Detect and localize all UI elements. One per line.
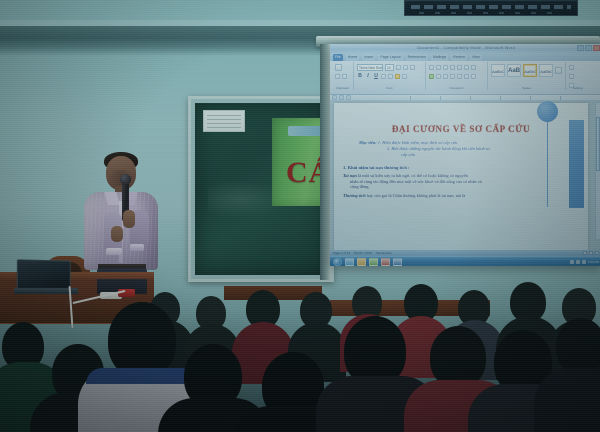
ribbon-group-styles[interactable]: AaBbCcD AaBbC AaBbCcD AaBbCc Styles xyxy=(488,62,566,90)
taskbar-windows-explorer-icon[interactable] xyxy=(357,258,366,266)
paragraph-1-cont-2: cộng đồng. xyxy=(343,184,579,190)
presenter-cuff-right xyxy=(130,244,144,251)
print-layout-view-icon[interactable] xyxy=(583,251,587,255)
shrink-font-icon[interactable] xyxy=(403,65,408,70)
group-label-paragraph: Paragraph xyxy=(426,86,487,90)
decorative-line-shape xyxy=(547,121,548,207)
paragraph-2-lead: Thương tích xyxy=(343,193,366,198)
multilevel-list-icon[interactable] xyxy=(443,65,448,70)
classroom-scene: CÁ Document xyxy=(0,0,600,432)
borders-icon[interactable] xyxy=(471,74,476,79)
text-highlight-icon[interactable] xyxy=(395,74,400,79)
strikethrough-icon[interactable] xyxy=(381,74,386,79)
style-heading-1[interactable]: AaBbC xyxy=(507,64,521,77)
ribbon-group-clipboard[interactable]: Clipboard xyxy=(332,62,354,90)
taskbar-internet-explorer-icon[interactable] xyxy=(345,258,354,266)
scrollbar-thumb[interactable] xyxy=(596,117,600,171)
grow-font-icon[interactable] xyxy=(396,65,401,70)
objectives-block: Mục tiêu: 1. Hiểu được khái niệm, mục đí… xyxy=(343,140,579,158)
tab-insert[interactable]: Insert xyxy=(362,54,375,61)
status-view-controls[interactable] xyxy=(583,251,599,255)
ribbon-group-font[interactable]: Times New Roman 14 B I U xyxy=(354,62,426,90)
save-icon[interactable] xyxy=(332,95,337,100)
style-heading-2[interactable]: AaBbCcD xyxy=(523,64,537,77)
status-page-info: Page 1 of 12 xyxy=(333,251,350,255)
status-language: Vietnamese xyxy=(376,251,392,255)
system-tray[interactable]: 1:03 PM xyxy=(570,260,599,264)
taskbar-microsoft-word-icon[interactable] xyxy=(393,258,402,266)
taskbar-powerpoint-icon[interactable] xyxy=(381,258,390,266)
projection-screen: Document1 - Compatibility Mode - Microso… xyxy=(330,44,600,266)
windows-taskbar[interactable]: 1:03 PM xyxy=(330,256,600,266)
taskbar-media-player-icon[interactable] xyxy=(369,258,378,266)
tab-home[interactable]: Home xyxy=(346,54,360,61)
sort-icon[interactable] xyxy=(464,65,469,70)
change-styles-icon[interactable] xyxy=(555,67,562,74)
increase-indent-icon[interactable] xyxy=(457,65,462,70)
show-marks-icon[interactable] xyxy=(471,65,476,70)
close-icon[interactable] xyxy=(593,45,600,51)
ribbon[interactable]: Clipboard Times New Roman 14 B I U xyxy=(330,61,600,95)
start-button-icon[interactable] xyxy=(333,258,342,266)
objective-1: 1. Hiểu được khái niệm, mục đích sơ cấp … xyxy=(378,140,458,145)
font-name-box[interactable]: Times New Roman xyxy=(357,64,383,71)
maximize-icon[interactable] xyxy=(585,45,592,51)
numbering-icon[interactable] xyxy=(436,65,441,70)
font-size-box[interactable]: 14 xyxy=(385,64,394,71)
document-canvas[interactable]: ĐẠI CƯƠNG VỀ SƠ CẤP CỨU Mục tiêu: 1. Hiể… xyxy=(330,101,600,250)
slide-title: ĐẠI CƯƠNG VỀ SƠ CẤP CỨU xyxy=(343,124,579,134)
paragraph-2-rest: hay còn gọi là Chấn thương không phải là… xyxy=(366,193,466,198)
italic-button[interactable]: I xyxy=(365,73,371,80)
wall-sign-text-line-2 xyxy=(419,12,563,14)
line-spacing-icon[interactable] xyxy=(457,74,462,79)
underline-button[interactable]: U xyxy=(373,73,379,80)
word-title-bar[interactable]: Document1 - Compatibility Mode - Microso… xyxy=(330,44,600,53)
cut-icon[interactable] xyxy=(335,74,340,79)
presenter xyxy=(78,152,164,292)
ribbon-tab-strip[interactable]: File Home Insert Page Layout References … xyxy=(330,53,600,61)
font-color-icon[interactable] xyxy=(402,74,407,79)
back-desk-right xyxy=(330,300,490,316)
presenter-cuff-left xyxy=(106,248,122,255)
minimize-icon[interactable] xyxy=(577,45,584,51)
paragraph-1-rest: là một sự kiện xảy ra bất ngờ, có thể có… xyxy=(357,173,468,178)
full-screen-view-icon[interactable] xyxy=(589,251,593,255)
back-desk-mid xyxy=(224,286,322,300)
style-normal[interactable]: AaBbCcD xyxy=(491,64,505,77)
style-title[interactable]: AaBbCc xyxy=(539,64,553,77)
align-center-icon[interactable] xyxy=(436,74,441,79)
ribbon-group-paragraph[interactable]: Paragraph xyxy=(426,62,488,90)
replace-icon[interactable] xyxy=(569,74,574,79)
group-label-clipboard: Clipboard xyxy=(332,86,353,90)
align-right-icon[interactable] xyxy=(443,74,448,79)
network-icon[interactable] xyxy=(570,260,574,264)
wall-sign-text-line-1 xyxy=(411,5,571,9)
undo-icon[interactable] xyxy=(339,95,344,100)
board-notice-paper xyxy=(203,110,245,132)
presenter-hand-left xyxy=(111,226,123,242)
taskbar-clock[interactable]: 1:03 PM xyxy=(588,260,599,264)
subscript-icon[interactable] xyxy=(388,74,393,79)
copy-icon[interactable] xyxy=(342,74,347,79)
volume-icon[interactable] xyxy=(576,260,580,264)
wall-sign xyxy=(404,0,578,16)
web-layout-view-icon[interactable] xyxy=(595,251,599,255)
presenter-hand-right xyxy=(123,210,135,228)
document-page[interactable]: ĐẠI CƯƠNG VỀ SƠ CẤP CỨU Mục tiêu: 1. Hiể… xyxy=(334,103,588,250)
decorative-circle-shape xyxy=(537,101,558,122)
laptop-screen xyxy=(17,259,71,290)
decorative-bar-shape xyxy=(569,120,584,208)
word-title-text: Document1 - Compatibility Mode - Microso… xyxy=(417,45,515,50)
tab-review[interactable]: Review xyxy=(451,54,467,61)
clear-formatting-icon[interactable] xyxy=(410,65,415,70)
battery-icon[interactable] xyxy=(582,260,586,264)
tab-file[interactable]: File xyxy=(333,54,343,61)
group-label-editing: Editing xyxy=(566,86,590,90)
section-heading: 1. Khái niệm tai nạn thương tích : xyxy=(343,165,579,170)
tab-view[interactable]: View xyxy=(470,54,482,61)
quick-access-toolbar[interactable] xyxy=(332,95,351,100)
paste-icon[interactable] xyxy=(335,64,342,71)
group-label-styles: Styles xyxy=(488,86,565,90)
window-controls[interactable] xyxy=(577,45,600,51)
status-word-count: Words: 2,340 xyxy=(354,251,372,255)
bold-button[interactable]: B xyxy=(357,73,363,80)
objective-3: cấp cứu xyxy=(343,152,579,158)
find-icon[interactable] xyxy=(569,65,574,70)
bullets-icon[interactable] xyxy=(429,65,434,70)
tab-references[interactable]: References xyxy=(406,54,428,61)
objectives-label: Mục tiêu: xyxy=(359,140,377,145)
justify-icon[interactable] xyxy=(450,74,455,79)
ribbon-group-editing[interactable]: Editing xyxy=(566,62,590,90)
redo-icon[interactable] xyxy=(346,95,351,100)
microphone-head-icon xyxy=(120,174,131,185)
group-label-font: Font xyxy=(354,86,425,90)
shading-icon[interactable] xyxy=(464,74,469,79)
paragraph-2: Thương tích hay còn gọi là Chấn thương k… xyxy=(343,193,579,199)
align-left-icon[interactable] xyxy=(429,74,434,79)
vertical-scrollbar[interactable] xyxy=(595,102,600,240)
word-application-window[interactable]: Document1 - Compatibility Mode - Microso… xyxy=(330,44,600,266)
paragraph-1: Tai nạn là một sự kiện xảy ra bất ngờ, c… xyxy=(343,173,579,190)
tab-mailings[interactable]: Mailings xyxy=(431,54,448,61)
paragraph-1-lead: Tai nạn xyxy=(343,173,357,178)
tab-page-layout[interactable]: Page Layout xyxy=(378,54,402,61)
decrease-indent-icon[interactable] xyxy=(450,65,455,70)
